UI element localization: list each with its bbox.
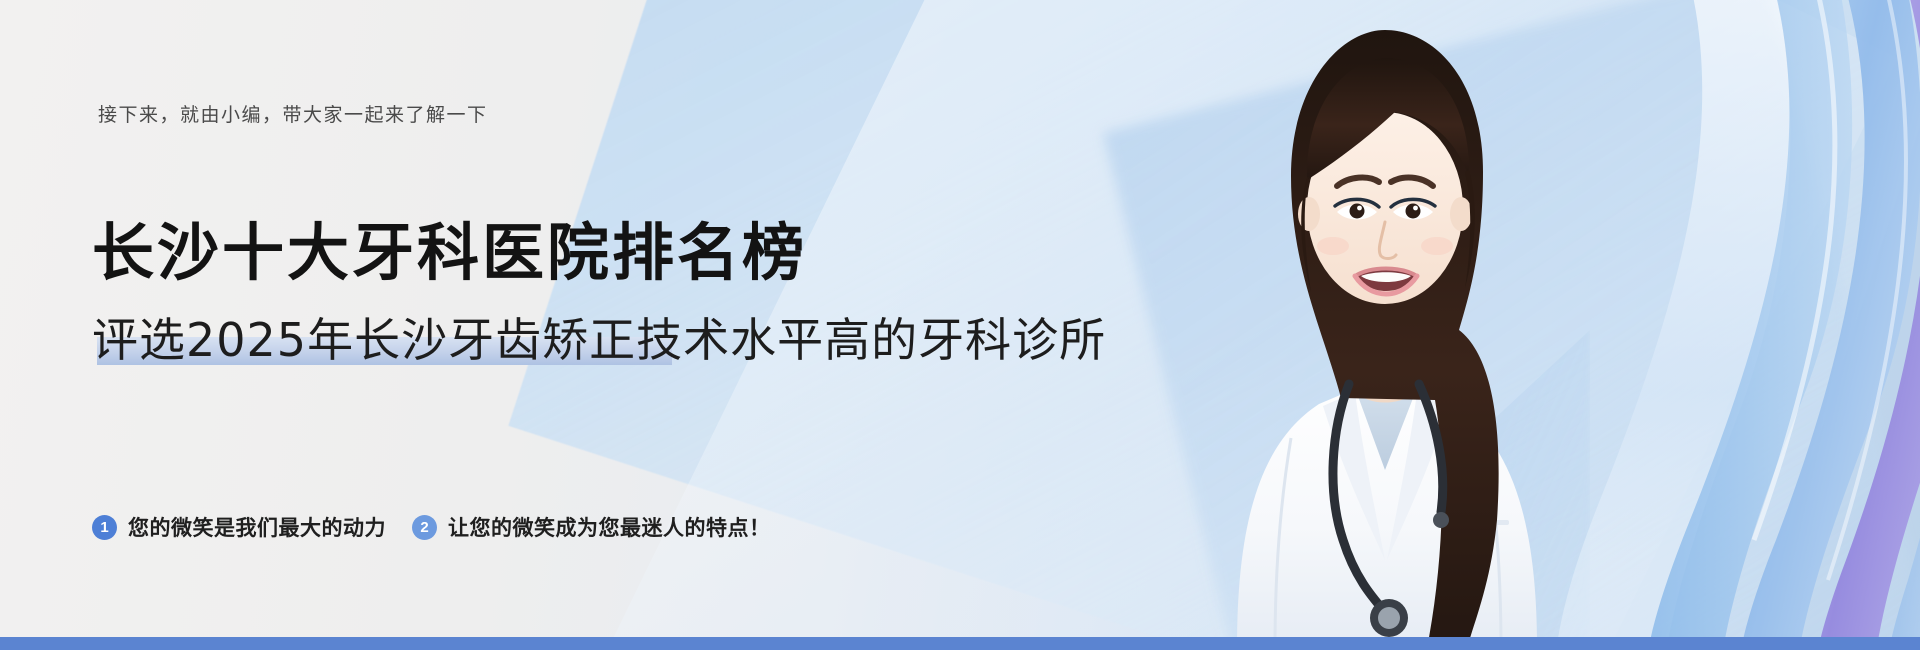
subheadline-wrapper: 评选2025年长沙牙齿矫正技术水平高的牙科诊所: [92, 275, 1106, 365]
slogan-text-1: 您的微笑是我们最大的动力: [128, 512, 386, 542]
page-subtitle: 评选2025年长沙牙齿矫正技术水平高的牙科诊所: [92, 313, 1106, 368]
eyebrow-text: 接下来，就由小编，带大家一起来了解一下: [98, 100, 488, 127]
list-item: 1 您的微笑是我们最大的动力: [92, 512, 386, 542]
number-badge-2: 2: [412, 515, 437, 540]
banner-content: 接下来，就由小编，带大家一起来了解一下 长沙十大牙科医院排名榜 评选2025年长…: [0, 0, 1100, 650]
slogan-list: 1 您的微笑是我们最大的动力 2 让您的微笑成为您最迷人的特点！: [92, 512, 771, 542]
doctor-portrait-image: [1055, 0, 1695, 648]
slogan-text-2: 让您的微笑成为您最迷人的特点！: [448, 512, 771, 542]
dental-ranking-banner: 接下来，就由小编，带大家一起来了解一下 长沙十大牙科医院排名榜 评选2025年长…: [0, 0, 1920, 650]
list-item: 2 让您的微笑成为您最迷人的特点！: [412, 512, 771, 542]
number-badge-1: 1: [92, 515, 117, 540]
